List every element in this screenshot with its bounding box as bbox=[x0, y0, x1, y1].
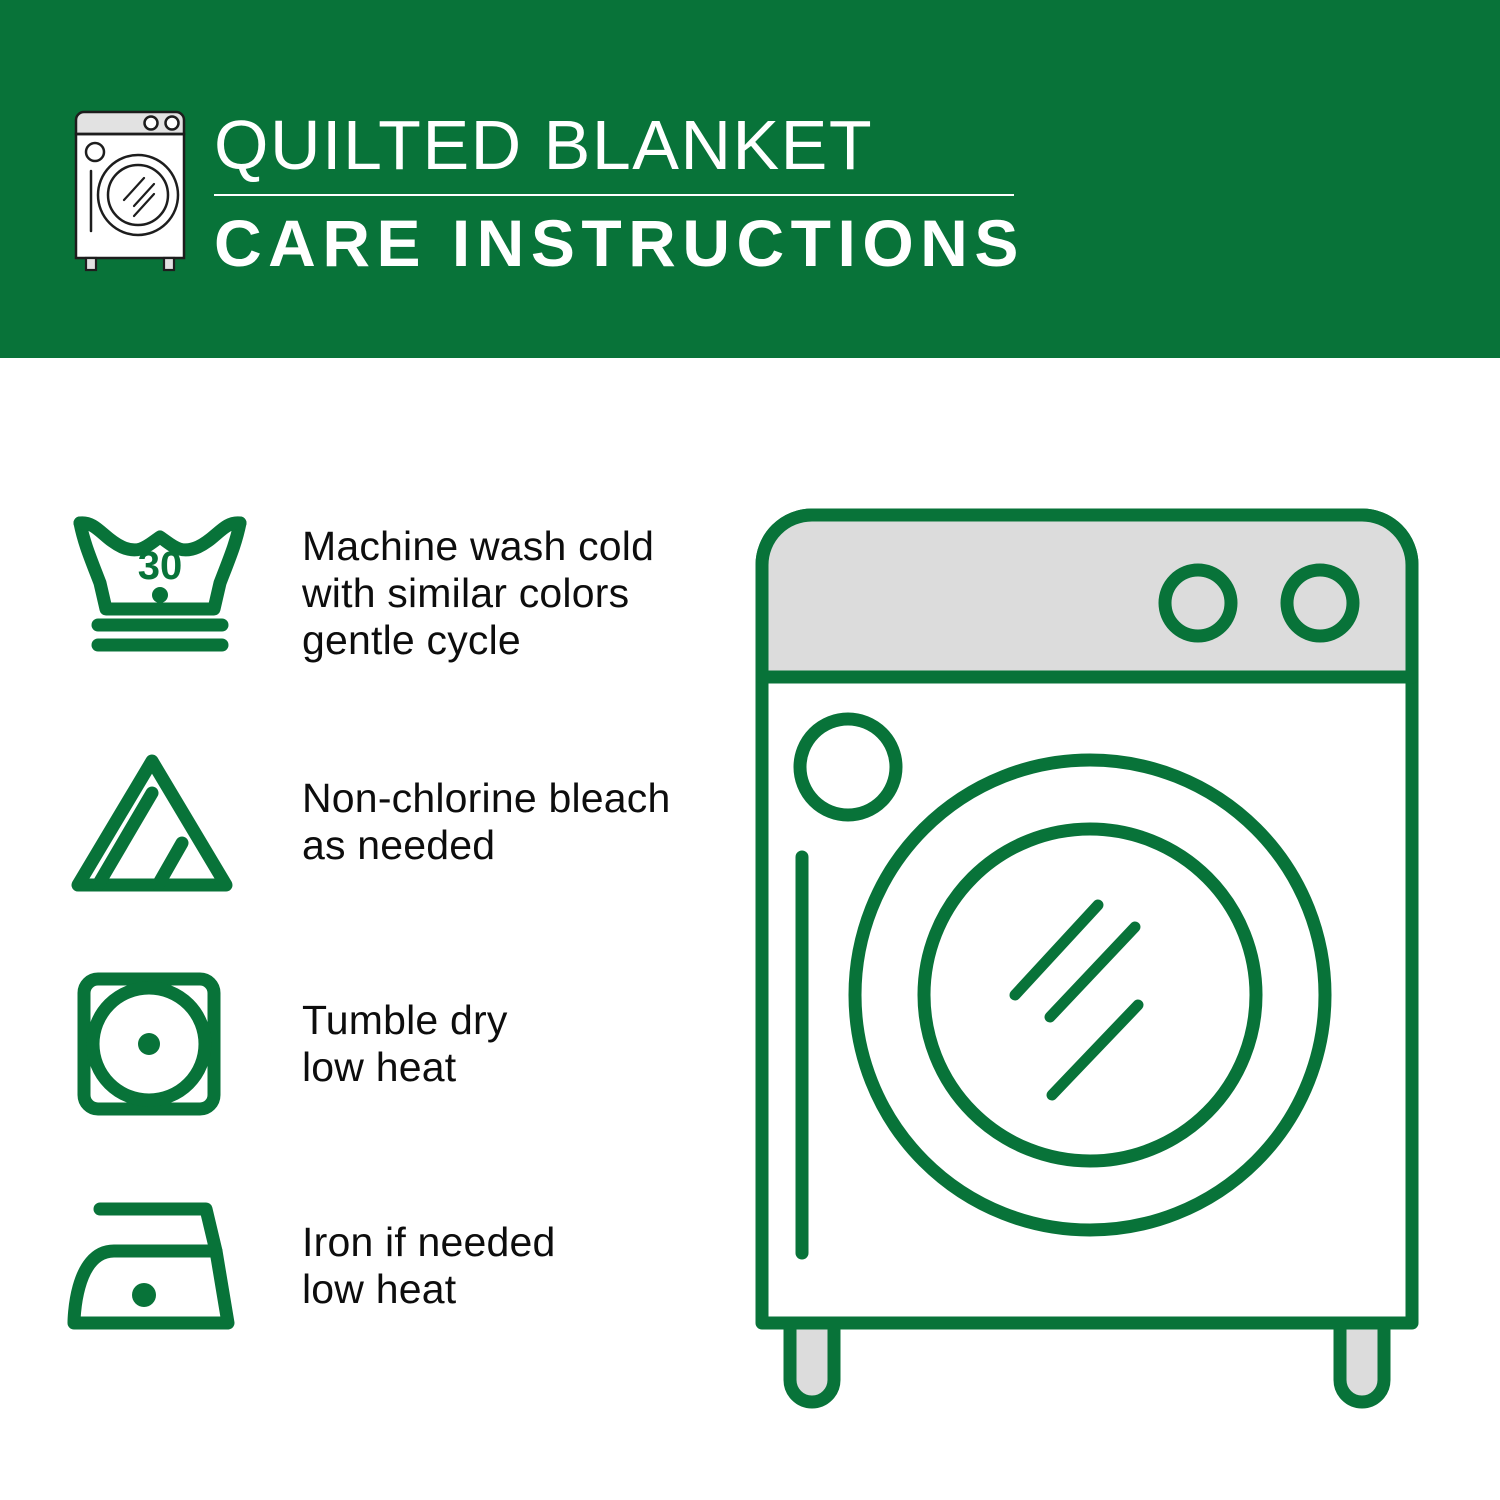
control-knob bbox=[1287, 570, 1353, 636]
tumble-dry-low-icon bbox=[72, 971, 252, 1131]
instruction-line: Non-chlorine bleach bbox=[302, 775, 670, 822]
washing-machine-icon bbox=[62, 104, 198, 272]
wash-temperature-label: 30 bbox=[138, 544, 183, 588]
page-title: QUILTED BLANKET bbox=[214, 104, 1024, 186]
instruction-line: Tumble dry bbox=[302, 997, 508, 1044]
instruction-row: Non-chlorine bleach as needed bbox=[0, 727, 720, 949]
wash-tub-30-icon: 30 bbox=[70, 505, 250, 665]
header-text-block: QUILTED BLANKET CARE INSTRUCTIONS bbox=[214, 104, 1024, 280]
instruction-text: Iron if needed low heat bbox=[302, 1219, 556, 1313]
instruction-line: gentle cycle bbox=[302, 617, 654, 664]
instruction-row: 30 Machine wash cold with similar colors… bbox=[0, 505, 720, 727]
instruction-line: Machine wash cold bbox=[302, 523, 654, 570]
instruction-line: Iron if needed bbox=[302, 1219, 556, 1266]
control-knob bbox=[1165, 570, 1231, 636]
header-band: QUILTED BLANKET CARE INSTRUCTIONS bbox=[0, 0, 1500, 358]
instruction-line: as needed bbox=[302, 822, 670, 869]
instruction-line: with similar colors bbox=[302, 570, 654, 617]
front-load-washing-machine-illustration bbox=[740, 495, 1460, 1425]
care-instruction-list: 30 Machine wash cold with similar colors… bbox=[0, 505, 720, 1393]
page-subtitle: CARE INSTRUCTIONS bbox=[214, 206, 1024, 280]
instruction-line: low heat bbox=[302, 1044, 508, 1091]
indicator-circle bbox=[800, 719, 896, 815]
title-divider bbox=[214, 194, 1014, 196]
instruction-text: Machine wash cold with similar colors ge… bbox=[302, 523, 654, 664]
instruction-row: Tumble dry low heat bbox=[0, 949, 720, 1171]
instruction-line: low heat bbox=[302, 1266, 556, 1313]
non-chlorine-bleach-triangle-icon bbox=[70, 745, 250, 905]
iron-low-heat-icon bbox=[66, 1195, 246, 1355]
instruction-text: Non-chlorine bleach as needed bbox=[302, 775, 670, 869]
instruction-row: Iron if needed low heat bbox=[0, 1171, 720, 1393]
instruction-text: Tumble dry low heat bbox=[302, 997, 508, 1091]
care-instructions-page: QUILTED BLANKET CARE INSTRUCTIONS bbox=[0, 0, 1500, 1500]
